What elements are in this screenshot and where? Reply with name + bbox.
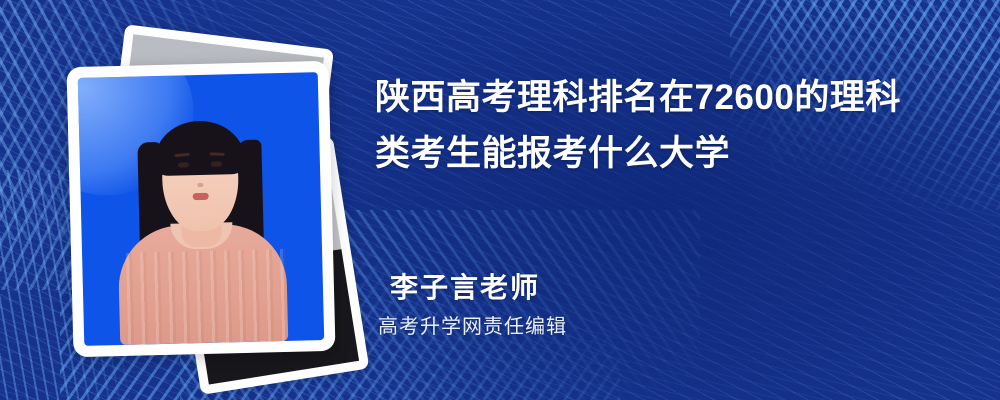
author-portrait-photo xyxy=(78,72,324,346)
portrait-eye-right xyxy=(211,161,222,166)
portrait-figure xyxy=(79,110,325,346)
page-title-line-1: 陕西高考理科排名在72600的理科 xyxy=(375,70,965,126)
portrait-dress-texture xyxy=(118,249,288,345)
portrait-hair-front xyxy=(154,120,245,176)
headline-block: 陕西高考理科排名在72600的理科 类考生能报考什么大学 xyxy=(375,70,965,182)
portrait-eyebrow-right xyxy=(210,152,225,156)
portrait-nose xyxy=(197,183,203,187)
author-byline: 李子言老师 高考升学网责任编辑 xyxy=(390,268,567,344)
page-title-line-2: 类考生能报考什么大学 xyxy=(375,126,965,182)
portrait-eye-left xyxy=(178,162,189,167)
author-photo-card xyxy=(66,61,335,357)
portrait-mouth xyxy=(193,193,209,200)
photo-card-stack xyxy=(62,36,362,366)
article-cover-banner: 陕西高考理科排名在72600的理科 类考生能报考什么大学 李子言老师 高考升学网… xyxy=(0,0,1000,400)
author-role: 高考升学网责任编辑 xyxy=(378,310,567,344)
author-name: 李子言老师 xyxy=(390,268,567,308)
